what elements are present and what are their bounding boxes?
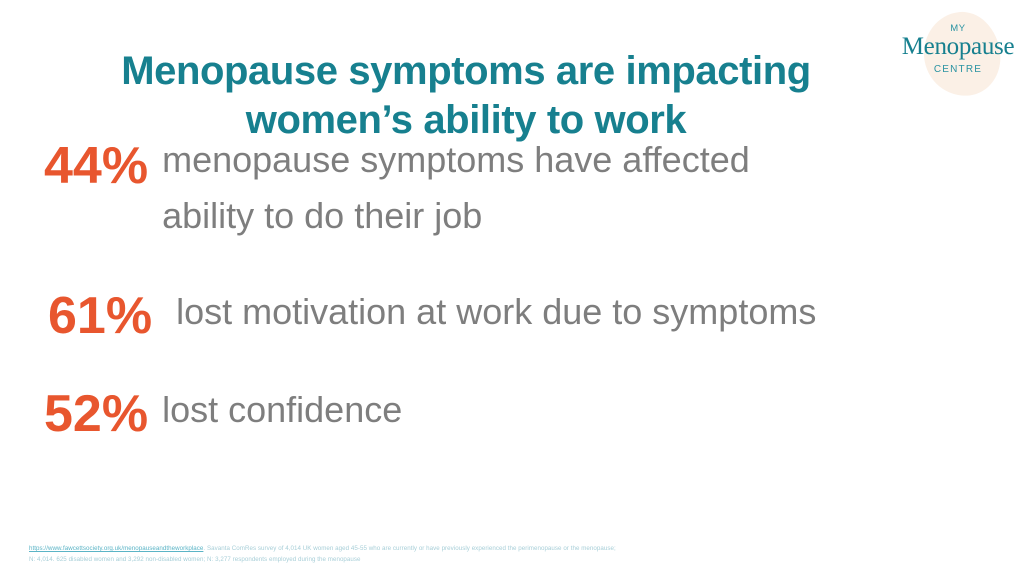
source-footnote-rest: . Savanta ComRes survey of 4,014 UK wome… (203, 545, 615, 552)
stat-percentage: 61% (48, 288, 152, 344)
stat-percentage: 44% (44, 138, 148, 194)
stat-description: lost confidence (162, 382, 402, 438)
stat-description: lost motivation at work due to symptoms (176, 284, 816, 340)
statistics-list: 44% menopause symptoms have affected abi… (0, 132, 1024, 442)
slide-canvas: MY Menopause CENTRE Menopause symptoms a… (0, 0, 1024, 576)
stat-description: menopause symptoms have affected ability… (162, 132, 802, 244)
my-menopause-centre-logo: MY Menopause CENTRE (898, 8, 1018, 100)
stat-row: 61% lost motivation at work due to sympt… (0, 284, 1024, 344)
source-footnote-line-2: N: 4,014. 625 disabled women and 3,292 n… (29, 554, 989, 565)
stat-row: 44% menopause symptoms have affected abi… (0, 132, 1024, 244)
page-title: Menopause symptoms are impacting women’s… (48, 47, 884, 145)
page-title-line-1: Menopause symptoms are impacting (48, 47, 884, 96)
source-footnote-line-1: https://www.fawcettsociety.org.uk/menopa… (29, 543, 989, 554)
logo-menopause-text: Menopause (898, 34, 1018, 59)
stat-percentage: 52% (44, 386, 148, 442)
source-footnote: https://www.fawcettsociety.org.uk/menopa… (29, 543, 989, 566)
stat-row: 52% lost confidence (0, 382, 1024, 442)
logo-centre-text: CENTRE (898, 64, 1018, 75)
source-link[interactable]: https://www.fawcettsociety.org.uk/menopa… (29, 545, 203, 552)
